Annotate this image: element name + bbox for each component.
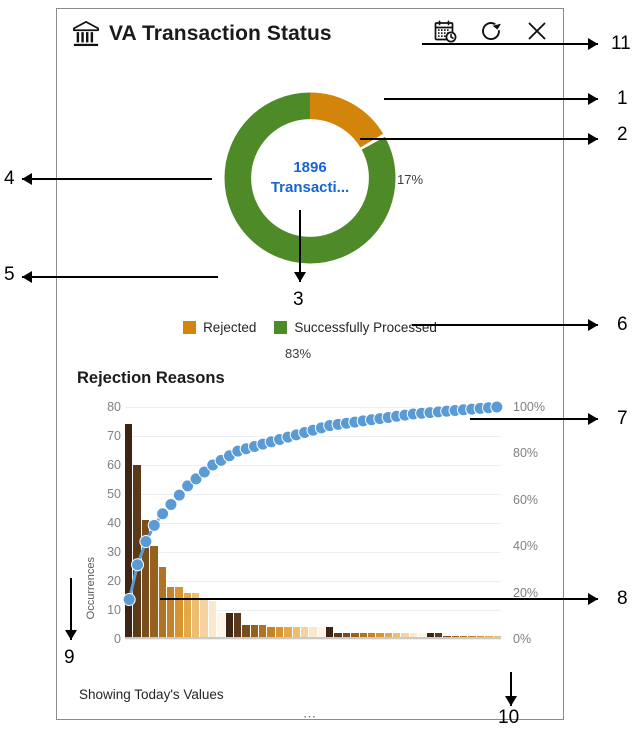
annotation-arrow-5 [22,270,218,284]
cumulative-line-marker[interactable] [132,559,144,571]
annotation-arrow-11 [422,37,598,51]
rejection-reasons-pareto-chart: Occurrences 01020304050607080 0%20%40%60… [77,407,547,675]
pareto-chart-title: Rejection Reasons [77,369,225,388]
y-axis-left-tick: 80 [107,400,121,414]
y-axis-left-tick: 30 [107,545,121,559]
y-axis-right-tick: 0% [513,632,531,646]
footer-note: Showing Today's Values [79,687,224,702]
annotation-arrow-1 [384,92,598,106]
annotation-label-4: 4 [4,169,15,188]
annotation-label-6: 6 [617,315,628,334]
y-axis-left-tick: 50 [107,487,121,501]
annotation-label-2: 2 [617,125,628,144]
cumulative-line-marker[interactable] [173,489,185,501]
y-axis-left-tick: 0 [114,632,121,646]
legend-label-rejected: Rejected [203,320,256,335]
annotation-label-9: 9 [64,648,75,667]
annotation-label-8: 8 [617,589,628,608]
cumulative-line-marker[interactable] [157,508,169,520]
y-axis-right-tick: 40% [513,539,538,553]
gridline [125,639,501,640]
annotation-label-1: 1 [617,89,628,108]
legend-item-rejected[interactable]: Rejected [183,320,256,335]
annotation-arrow-10 [504,672,518,706]
legend-swatch-rejected [183,321,196,334]
cumulative-line-marker[interactable] [123,594,135,606]
donut-svg [215,83,405,273]
annotation-arrow-6 [412,318,598,332]
donut-label-rejected-pct: 17% [397,172,423,187]
annotation-arrow-9 [64,578,78,640]
annotation-label-5: 5 [4,265,15,284]
cumulative-line-marker[interactable] [165,498,177,510]
annotation-arrow-4 [22,172,212,186]
annotation-label-3: 3 [293,290,304,309]
y-axis-left: 01020304050607080 [77,407,121,639]
cumulative-line-marker[interactable] [148,519,160,531]
cumulative-line-marker[interactable] [140,536,152,548]
y-axis-left-tick: 60 [107,458,121,472]
y-axis-left-tick: 40 [107,516,121,530]
y-axis-left-tick: 20 [107,574,121,588]
y-axis-left-tick: 70 [107,429,121,443]
annotation-label-7: 7 [617,409,628,428]
y-axis-right-tick: 80% [513,446,538,460]
annotation-label-10: 10 [498,708,519,727]
card-title: VA Transaction Status [109,22,332,46]
donut-label-processed-pct: 83% [285,346,311,361]
legend-swatch-successfully-processed [274,321,287,334]
va-transaction-status-card: VA Transaction Status [56,8,564,720]
bank-icon [71,20,101,48]
annotation-arrow-8 [160,592,598,606]
y-axis-right-tick: 60% [513,493,538,507]
annotation-arrow-3 [293,210,307,282]
annotation-arrow-7 [470,412,598,426]
y-axis-left-tick: 10 [107,603,121,617]
annotation-arrow-2 [360,132,598,146]
card-header: VA Transaction Status [57,9,563,59]
drag-handle-icon[interactable]: ⋯ [303,709,317,725]
annotation-label-11: 11 [611,34,631,53]
